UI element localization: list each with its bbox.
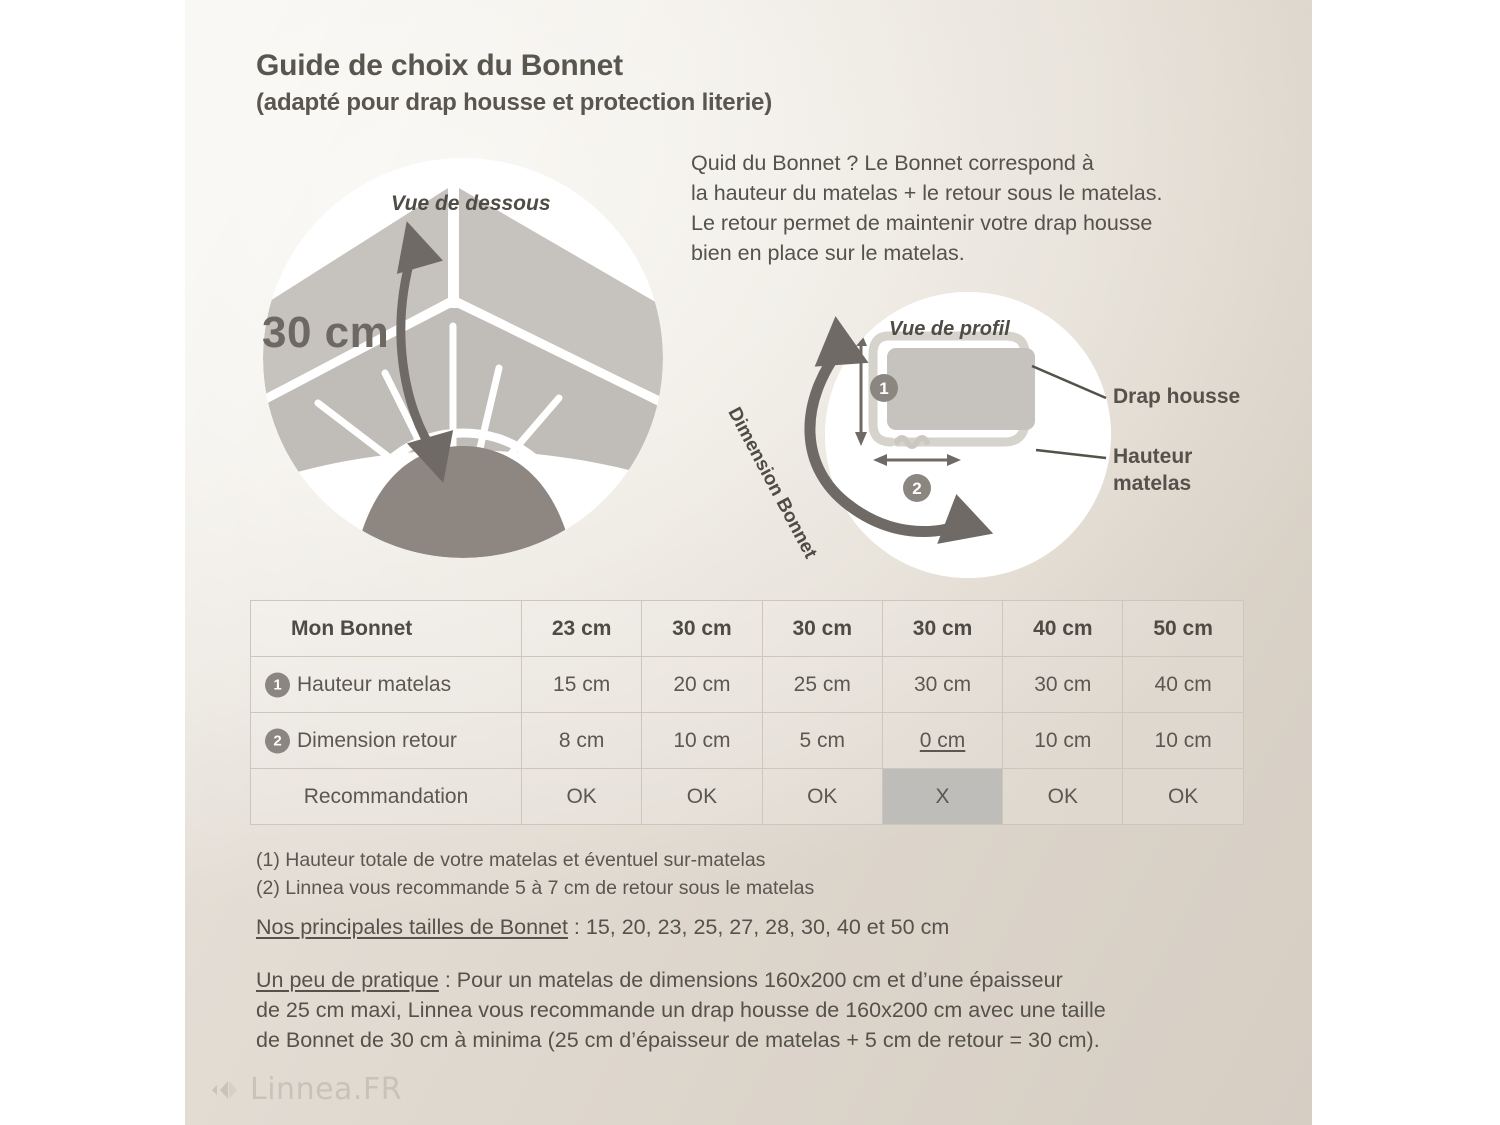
intro-line-4: bien en place sur le matelas. xyxy=(691,238,1271,268)
practical-line-3: de Bonnet de 30 cm à minima (25 cm d’épa… xyxy=(256,1025,1266,1055)
bonnet-table: Mon Bonnet 23 cm 30 cm 30 cm 30 cm 40 cm… xyxy=(250,600,1244,825)
row-label-text: Dimension retour xyxy=(297,729,457,752)
table-cell: 20 cm xyxy=(642,657,762,713)
badge-1: 1 xyxy=(265,672,290,697)
thirty-cm-measure-label: 30 cm xyxy=(262,308,389,358)
table-cell: 10 cm xyxy=(1003,713,1123,769)
bottom-view-diagram: Vue de dessous xyxy=(263,158,663,558)
table-row-hauteur-matelas: 1 Hauteur matelas 15 cm 20 cm 25 cm 30 c… xyxy=(251,657,1244,713)
badge-2: 2 xyxy=(265,728,290,753)
table-row-label-hauteur: 1 Hauteur matelas xyxy=(251,657,522,713)
table-cell: OK xyxy=(522,769,642,825)
table-cell: 30 cm xyxy=(882,601,1002,657)
table-cell: OK xyxy=(642,769,762,825)
footnote-2: (2) Linnea vous recommande 5 à 7 cm de r… xyxy=(256,874,1156,902)
page-title: Guide de choix du Bonnet xyxy=(256,48,1016,83)
bonnet-table-wrapper: Mon Bonnet 23 cm 30 cm 30 cm 30 cm 40 cm… xyxy=(250,600,1244,825)
brand-name: Linnea.FR xyxy=(250,1072,402,1107)
table-cell: 0 cm xyxy=(882,713,1002,769)
table-cell: 30 cm xyxy=(882,657,1002,713)
available-sizes-line: Nos principales tailles de Bonnet : 15, … xyxy=(256,915,949,940)
table-cell: 8 cm xyxy=(522,713,642,769)
callout-leader-lines xyxy=(1030,358,1120,498)
bonnet-dimension-arc-arrow xyxy=(780,290,1040,560)
table-cell: 50 cm xyxy=(1123,601,1243,657)
intro-paragraph: Quid du Bonnet ? Le Bonnet correspond à … xyxy=(691,148,1271,268)
bottom-view-svg xyxy=(263,158,663,558)
table-cell: 15 cm xyxy=(522,657,642,713)
table-cell: OK xyxy=(762,769,882,825)
table-cell: 30 cm xyxy=(1003,657,1123,713)
available-sizes-values: : 15, 20, 23, 25, 27, 28, 30, 40 et 50 c… xyxy=(568,915,949,939)
page-subtitle: (adapté pour drap housse et protection l… xyxy=(256,89,1016,118)
row-label-text: Hauteur matelas xyxy=(297,673,451,696)
table-row-label-retour: 2 Dimension retour xyxy=(251,713,522,769)
table-row-recommandation: Recommandation OK OK OK X OK OK xyxy=(251,769,1244,825)
footnote-1: (1) Hauteur totale de votre matelas et é… xyxy=(256,846,1156,874)
table-cell: 10 cm xyxy=(1123,713,1243,769)
intro-line-2: la hauteur du matelas + le retour sous l… xyxy=(691,178,1271,208)
table-cell: 40 cm xyxy=(1003,601,1123,657)
callout-hauteur-matelas: Hauteur matelas xyxy=(1113,443,1192,497)
practical-line-1: Un peu de pratique : Pour un matelas de … xyxy=(256,965,1266,995)
table-row-header: Mon Bonnet 23 cm 30 cm 30 cm 30 cm 40 cm… xyxy=(251,601,1244,657)
intro-line-3: Le retour permet de maintenir votre drap… xyxy=(691,208,1271,238)
table-cell-underlined: 0 cm xyxy=(920,729,966,752)
infographic-root: Guide de choix du Bonnet (adapté pour dr… xyxy=(0,0,1500,1125)
table-header-label: Mon Bonnet xyxy=(251,601,522,657)
table-cell: 5 cm xyxy=(762,713,882,769)
table-cell: 23 cm xyxy=(522,601,642,657)
available-sizes-lead: Nos principales tailles de Bonnet xyxy=(256,915,568,939)
table-cell: 40 cm xyxy=(1123,657,1243,713)
table-cell: OK xyxy=(1123,769,1243,825)
intro-line-1: Quid du Bonnet ? Le Bonnet correspond à xyxy=(691,148,1271,178)
table-cell: 25 cm xyxy=(762,657,882,713)
callout-hauteur-line-2: matelas xyxy=(1113,470,1192,497)
brand-logo: Linnea.FR xyxy=(210,1072,402,1107)
practical-example: Un peu de pratique : Pour un matelas de … xyxy=(256,965,1266,1055)
table-cell: 10 cm xyxy=(642,713,762,769)
callout-drap-housse: Drap housse xyxy=(1113,383,1240,410)
table-cell-not-recommended: X xyxy=(882,769,1002,825)
table-cell: 30 cm xyxy=(762,601,882,657)
bottom-view-label: Vue de dessous xyxy=(391,192,551,216)
table-row-dimension-retour: 2 Dimension retour 8 cm 10 cm 5 cm 0 cm … xyxy=(251,713,1244,769)
table-cell: OK xyxy=(1003,769,1123,825)
practical-lead: Un peu de pratique xyxy=(256,968,439,992)
table-row-label-reco: Recommandation xyxy=(251,769,522,825)
practical-line-1-rest: : Pour un matelas de dimensions 160x200 … xyxy=(439,968,1063,992)
callout-hauteur-line-1: Hauteur xyxy=(1113,443,1192,470)
table-cell: 30 cm xyxy=(642,601,762,657)
practical-line-2: de 25 cm maxi, Linnea vous recommande un… xyxy=(256,995,1266,1025)
title-block: Guide de choix du Bonnet (adapté pour dr… xyxy=(256,48,1016,118)
linnea-diamond-icon xyxy=(210,1077,240,1103)
footnotes: (1) Hauteur totale de votre matelas et é… xyxy=(256,846,1156,902)
